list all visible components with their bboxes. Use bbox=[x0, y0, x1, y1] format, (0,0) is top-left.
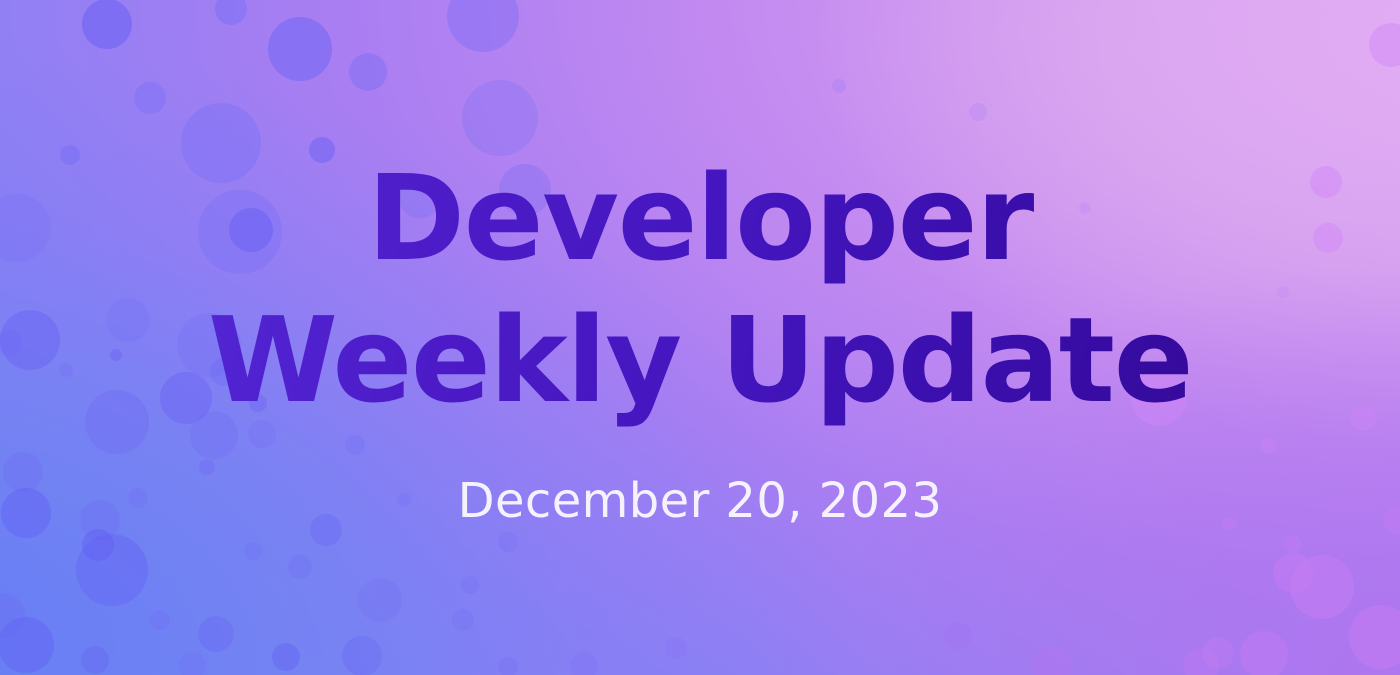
page-title-line-1: Developer bbox=[208, 147, 1192, 289]
banner-content: Developer Weekly Update December 20, 202… bbox=[0, 0, 1400, 675]
issue-date: December 20, 2023 bbox=[458, 473, 943, 529]
page-title: Developer Weekly Update bbox=[202, 147, 1198, 431]
newsletter-banner: Developer Weekly Update December 20, 202… bbox=[0, 0, 1400, 675]
page-title-line-2: Weekly Update bbox=[208, 289, 1192, 431]
